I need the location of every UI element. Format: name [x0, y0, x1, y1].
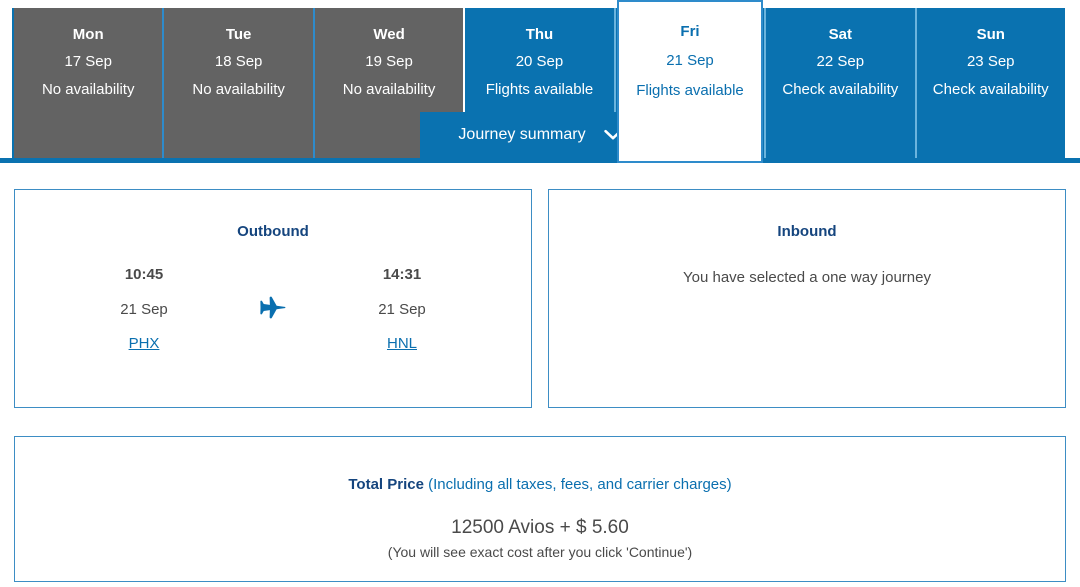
date-tab-day: Mon	[14, 27, 162, 42]
date-tab-date: 23 Sep	[917, 54, 1065, 69]
total-price-note: (Including all taxes, fees, and carrier …	[428, 476, 731, 493]
date-tab-status: Check availability	[766, 82, 914, 97]
date-tab-date: 19 Sep	[315, 54, 463, 69]
date-tab-day: Fri	[619, 23, 761, 40]
arrival-time: 14:31	[327, 266, 477, 283]
date-tab-status: No availability	[164, 82, 312, 97]
date-tab-date: 21 Sep	[619, 52, 761, 69]
total-price-disclaimer: (You will see exact cost after you click…	[15, 544, 1065, 560]
total-price-heading: Total Price (Including all taxes, fees, …	[15, 476, 1065, 493]
total-price-amount: 12500 Avios + $ 5.60	[15, 517, 1065, 539]
date-tab-day: Tue	[164, 27, 312, 42]
date-tab-date: 18 Sep	[164, 54, 312, 69]
inbound-panel: Inbound You have selected a one way jour…	[548, 189, 1066, 408]
inbound-note: You have selected a one way journey	[549, 269, 1065, 286]
date-bar-underline	[0, 158, 1080, 163]
date-tab-date: 20 Sep	[465, 54, 613, 69]
date-tab-status: Flights available	[619, 82, 761, 99]
outbound-departure: 10:45 21 Sep PHX	[69, 266, 219, 353]
date-tab-mon[interactable]: Mon 17 Sep No availability	[12, 8, 162, 158]
departure-airport-link[interactable]: PHX	[129, 335, 160, 352]
date-tab-status: Flights available	[465, 82, 613, 97]
date-availability-bar: Mon 17 Sep No availability Tue 18 Sep No…	[0, 0, 1080, 163]
date-tab-date: 17 Sep	[14, 54, 162, 69]
arrival-airport-link[interactable]: HNL	[387, 335, 417, 352]
inbound-title: Inbound	[549, 223, 1065, 240]
date-tab-day: Wed	[315, 27, 463, 42]
date-tab-tue[interactable]: Tue 18 Sep No availability	[162, 8, 312, 158]
date-tab-day: Sat	[766, 27, 914, 42]
departure-date: 21 Sep	[69, 301, 219, 318]
date-tab-sat[interactable]: Sat 22 Sep Check availability	[764, 8, 914, 158]
date-tab-day: Sun	[917, 27, 1065, 42]
date-tab-status: Check availability	[917, 82, 1065, 97]
airplane-icon	[219, 266, 327, 323]
outbound-title: Outbound	[15, 223, 531, 240]
departure-time: 10:45	[69, 266, 219, 283]
arrival-date: 21 Sep	[327, 301, 477, 318]
date-tab-status: No availability	[315, 82, 463, 97]
journey-summary-label: Journey summary	[458, 126, 585, 144]
total-price-panel: Total Price (Including all taxes, fees, …	[14, 436, 1066, 582]
date-tab-fri-selected[interactable]: Fri 21 Sep Flights available	[617, 0, 763, 163]
date-tab-date: 22 Sep	[766, 54, 914, 69]
outbound-panel: Outbound 10:45 21 Sep PHX 14:31 21 Sep H…	[14, 189, 532, 408]
total-price-label: Total Price	[348, 476, 424, 493]
date-tab-status: No availability	[14, 82, 162, 97]
date-tab-day: Thu	[465, 27, 613, 42]
outbound-legs: 10:45 21 Sep PHX 14:31 21 Sep HNL	[15, 266, 531, 353]
outbound-arrival: 14:31 21 Sep HNL	[327, 266, 477, 353]
date-tab-sun[interactable]: Sun 23 Sep Check availability	[915, 8, 1065, 158]
